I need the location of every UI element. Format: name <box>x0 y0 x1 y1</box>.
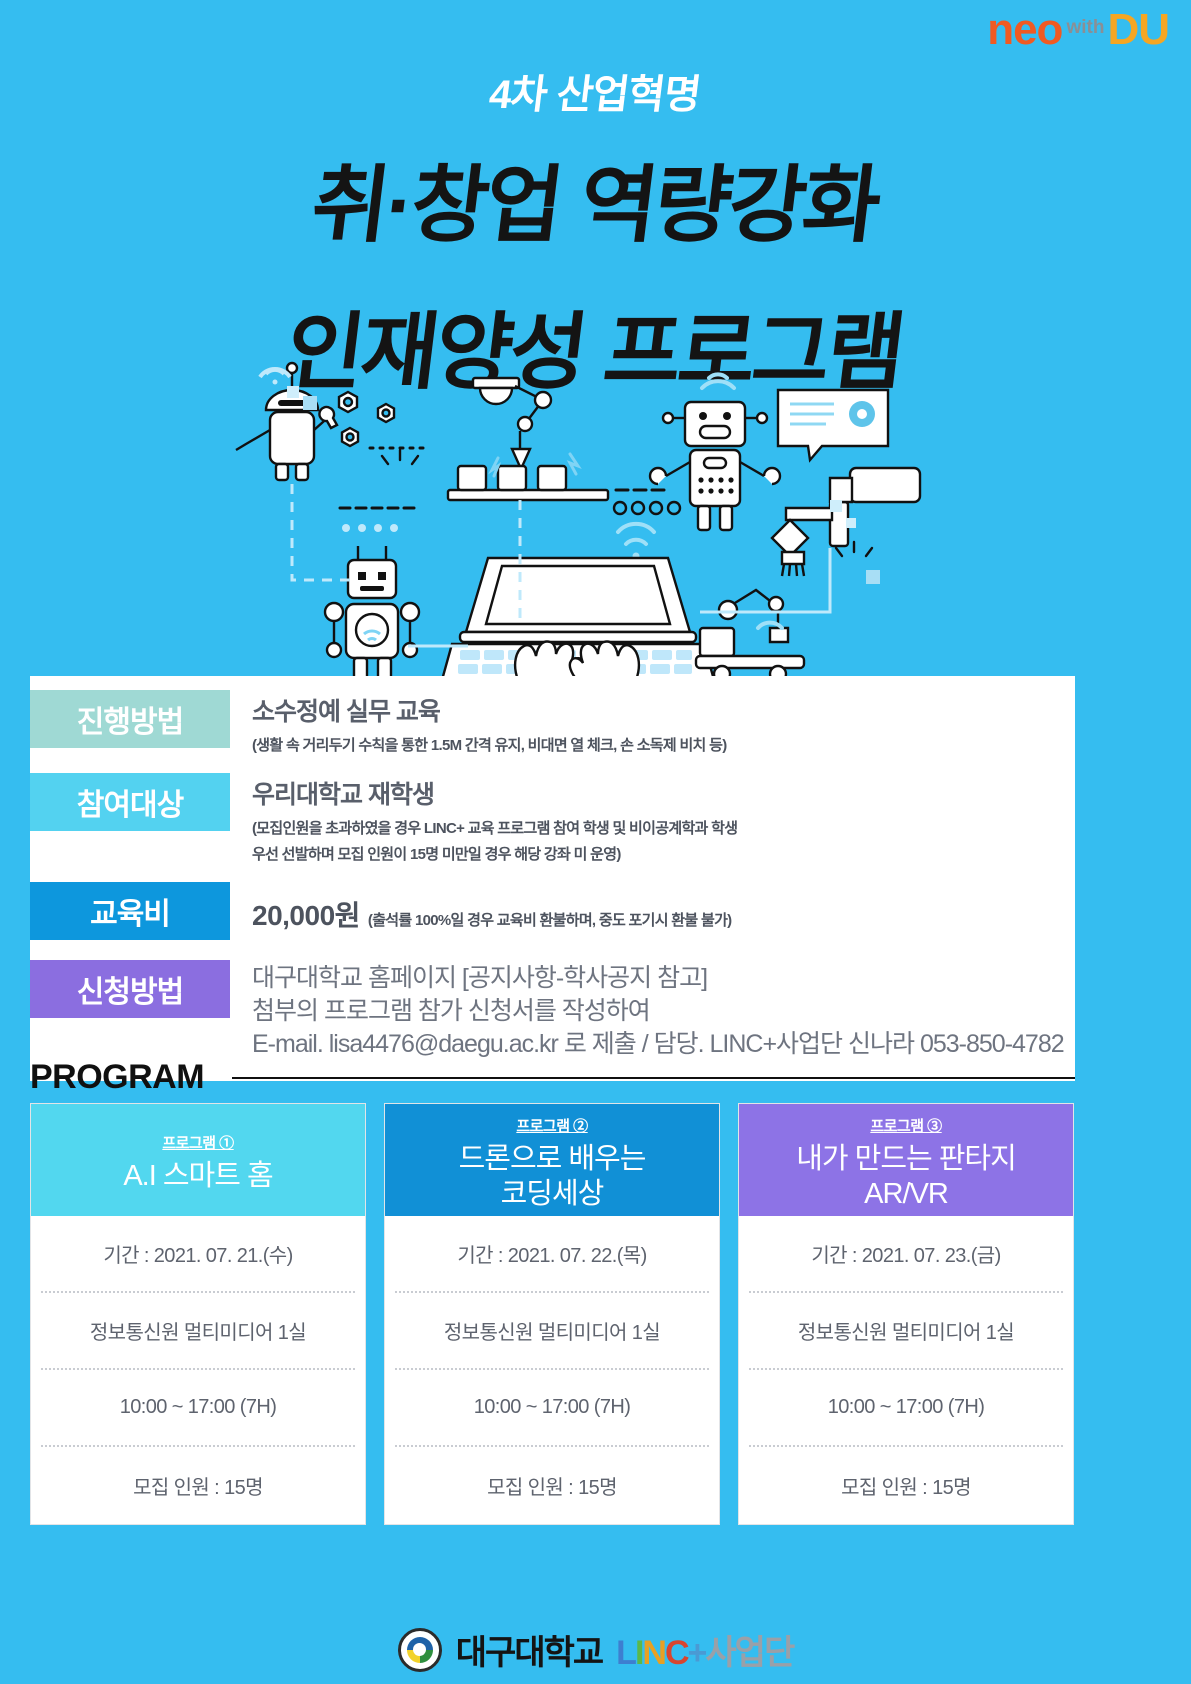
apply-line-1: 대구대학교 홈페이지 [공지사항-학사공지 참고] <box>252 962 1064 995</box>
apply-line-2: 첨부의 프로그램 참가 신청서를 작성하여 <box>252 995 1064 1028</box>
spark-icon <box>382 450 418 464</box>
program-card-2-title: 드론으로 배우는 코딩세상 <box>459 1142 646 1212</box>
program-card-3-tag: 프로그램 ③ <box>870 1115 941 1136</box>
info-row-apply: 신청방법 대구대학교 홈페이지 [공지사항-학사공지 참고] 첨부의 프로그램 … <box>30 960 1075 1061</box>
program-divider <box>232 1077 1075 1079</box>
program-card-3-header: 프로그램 ③ 내가 만드는 판타지 AR/VR <box>739 1104 1073 1216</box>
info-label-target: 참여대상 <box>30 773 230 831</box>
program-card-2[interactable]: 프로그램 ② 드론으로 배우는 코딩세상 기간 : 2021. 07. 22.(… <box>384 1103 720 1525</box>
program-card-3-date: 기간 : 2021. 07. 23.(금) <box>749 1216 1063 1293</box>
program-card-1-capacity: 모집 인원 : 15명 <box>41 1447 355 1524</box>
info-heading-target: 우리대학교 재학생 <box>252 775 737 811</box>
program-card-2-header: 프로그램 ② 드론으로 배우는 코딩세상 <box>385 1104 719 1216</box>
robotic-arm-icon <box>473 378 551 469</box>
gear-speech-bubble-icon <box>778 390 888 460</box>
poster-root: neo with DU 4차 산업혁명 취·창업 역량강화 인재양성 프로그램 <box>0 0 1191 1684</box>
info-body-method: 소수정예 실무 교육 (생활 속 거리두기 수칙을 통한 1.5M 간격 유지,… <box>230 690 727 757</box>
program-card-1-tag: 프로그램 ① <box>162 1132 233 1153</box>
info-note-method: (생활 속 거리두기 수칙을 통한 1.5M 간격 유지, 비대면 열 체크, … <box>252 734 727 757</box>
program-card-3[interactable]: 프로그램 ③ 내가 만드는 판타지 AR/VR 기간 : 2021. 07. 2… <box>738 1103 1074 1525</box>
robot-left-icon <box>236 363 337 480</box>
program-card-1-rows: 기간 : 2021. 07. 21.(수) 정보통신원 멀티미디어 1실 10:… <box>31 1216 365 1524</box>
daegu-university-emblem-icon <box>398 1628 442 1672</box>
program-card-1-title: A.I 스마트 홈 <box>123 1159 272 1194</box>
nuts-icons <box>339 392 394 446</box>
robotics-illustration <box>230 360 930 680</box>
program-card-3-place: 정보통신원 멀티미디어 1실 <box>749 1293 1063 1370</box>
program-card-2-time: 10:00 ~ 17:00 (7H) <box>395 1370 709 1447</box>
headline-eyebrow: 4차 산업혁명 <box>487 62 704 120</box>
info-label-method: 진행방법 <box>30 690 230 748</box>
linc-plus-sign: + <box>688 1634 706 1672</box>
headline-line-1: 취·창업 역량강화 <box>305 138 885 259</box>
program-card-1-time: 10:00 ~ 17:00 (7H) <box>41 1370 355 1447</box>
program-card-2-place: 정보통신원 멀티미디어 1실 <box>395 1293 709 1370</box>
apply-line-3: E-mail. lisa4476@daegu.ac.kr 로 제출 / 담당. … <box>252 1028 1064 1061</box>
program-card-1-date: 기간 : 2021. 07. 21.(수) <box>41 1216 355 1293</box>
info-body-apply: 대구대학교 홈페이지 [공지사항-학사공지 참고] 첨부의 프로그램 참가 신청… <box>230 960 1064 1061</box>
fee-amount: 20,000원 <box>252 894 360 934</box>
linc-letter-c: C <box>665 1634 688 1672</box>
neo-with-du-logo: neo with DU <box>987 10 1169 50</box>
program-card-1-header: 프로그램 ① A.I 스마트 홈 <box>31 1104 365 1216</box>
program-card-3-title: 내가 만드는 판타지 AR/VR <box>796 1142 1016 1212</box>
program-card-3-time: 10:00 ~ 17:00 (7H) <box>749 1370 1063 1447</box>
program-card-3-capacity: 모집 인원 : 15명 <box>749 1447 1063 1524</box>
fee-note: (출석률 100%일 경우 교육비 환불하며, 중도 포기시 환불 불가) <box>368 909 732 930</box>
program-card-2-tag: 프로그램 ② <box>516 1115 587 1136</box>
neo-logo-text: neo <box>987 10 1062 50</box>
info-row-fee: 교육비 20,000원 (출석률 100%일 경우 교육비 환불하며, 중도 포… <box>30 882 1075 944</box>
linc-suffix: 사업단 <box>705 1634 793 1672</box>
with-logo-text: with <box>1066 19 1104 36</box>
headline-block: 4차 산업혁명 취·창업 역량강화 인재양성 프로그램 <box>0 62 1191 406</box>
linc-plus-logo: LINC+사업단 <box>616 1625 793 1674</box>
program-card-2-rows: 기간 : 2021. 07. 22.(목) 정보통신원 멀티미디어 1실 10:… <box>385 1216 719 1524</box>
program-card-1[interactable]: 프로그램 ① A.I 스마트 홈 기간 : 2021. 07. 21.(수) 정… <box>30 1103 366 1525</box>
info-row-target: 참여대상 우리대학교 재학생 (모집인원을 초과하였을 경우 LINC+ 교육 … <box>30 773 1075 866</box>
footer-logos: 대구대학교 LINC+사업단 <box>0 1625 1191 1674</box>
info-note-target-2: 우선 선발하며 모집 인원이 15명 미만일 경우 해당 강좌 미 운영) <box>252 843 737 866</box>
laptop-icon <box>442 558 714 680</box>
program-section-header: PROGRAM <box>30 1058 1075 1097</box>
linc-letter-n: N <box>642 1634 665 1672</box>
info-label-fee: 교육비 <box>30 882 230 940</box>
conveyor-icon <box>448 466 608 500</box>
program-section-title: PROGRAM <box>30 1058 204 1097</box>
info-heading-method: 소수정예 실무 교육 <box>252 692 727 728</box>
small-circles <box>614 502 680 514</box>
rover-arm-icon <box>696 590 804 680</box>
info-panel: 진행방법 소수정예 실무 교육 (생활 속 거리두기 수칙을 통한 1.5M 간… <box>30 676 1075 1081</box>
program-card-3-rows: 기간 : 2021. 07. 23.(금) 정보통신원 멀티미디어 1실 10:… <box>739 1216 1073 1524</box>
program-card-1-place: 정보통신원 멀티미디어 1실 <box>41 1293 355 1370</box>
program-card-2-date: 기간 : 2021. 07. 22.(목) <box>395 1216 709 1293</box>
du-logo-text: DU <box>1107 10 1169 50</box>
linc-letter-l: L <box>616 1634 635 1672</box>
info-note-target-1: (모집인원을 초과하였을 경우 LINC+ 교육 프로그램 참여 학생 및 비이… <box>252 817 737 840</box>
info-label-apply: 신청방법 <box>30 960 230 1018</box>
robot-small-icon <box>325 546 419 680</box>
info-body-fee: 20,000원 (출석률 100%일 경우 교육비 환불하며, 중도 포기시 환… <box>230 882 731 934</box>
program-cards: 프로그램 ① A.I 스마트 홈 기간 : 2021. 07. 21.(수) 정… <box>30 1103 1075 1525</box>
university-name: 대구대학교 <box>456 1625 602 1674</box>
program-card-2-capacity: 모집 인원 : 15명 <box>395 1447 709 1524</box>
info-row-method: 진행방법 소수정예 실무 교육 (생활 속 거리두기 수칙을 통한 1.5M 간… <box>30 690 1075 757</box>
info-body-target: 우리대학교 재학생 (모집인원을 초과하였을 경우 LINC+ 교육 프로그램 … <box>230 773 737 866</box>
